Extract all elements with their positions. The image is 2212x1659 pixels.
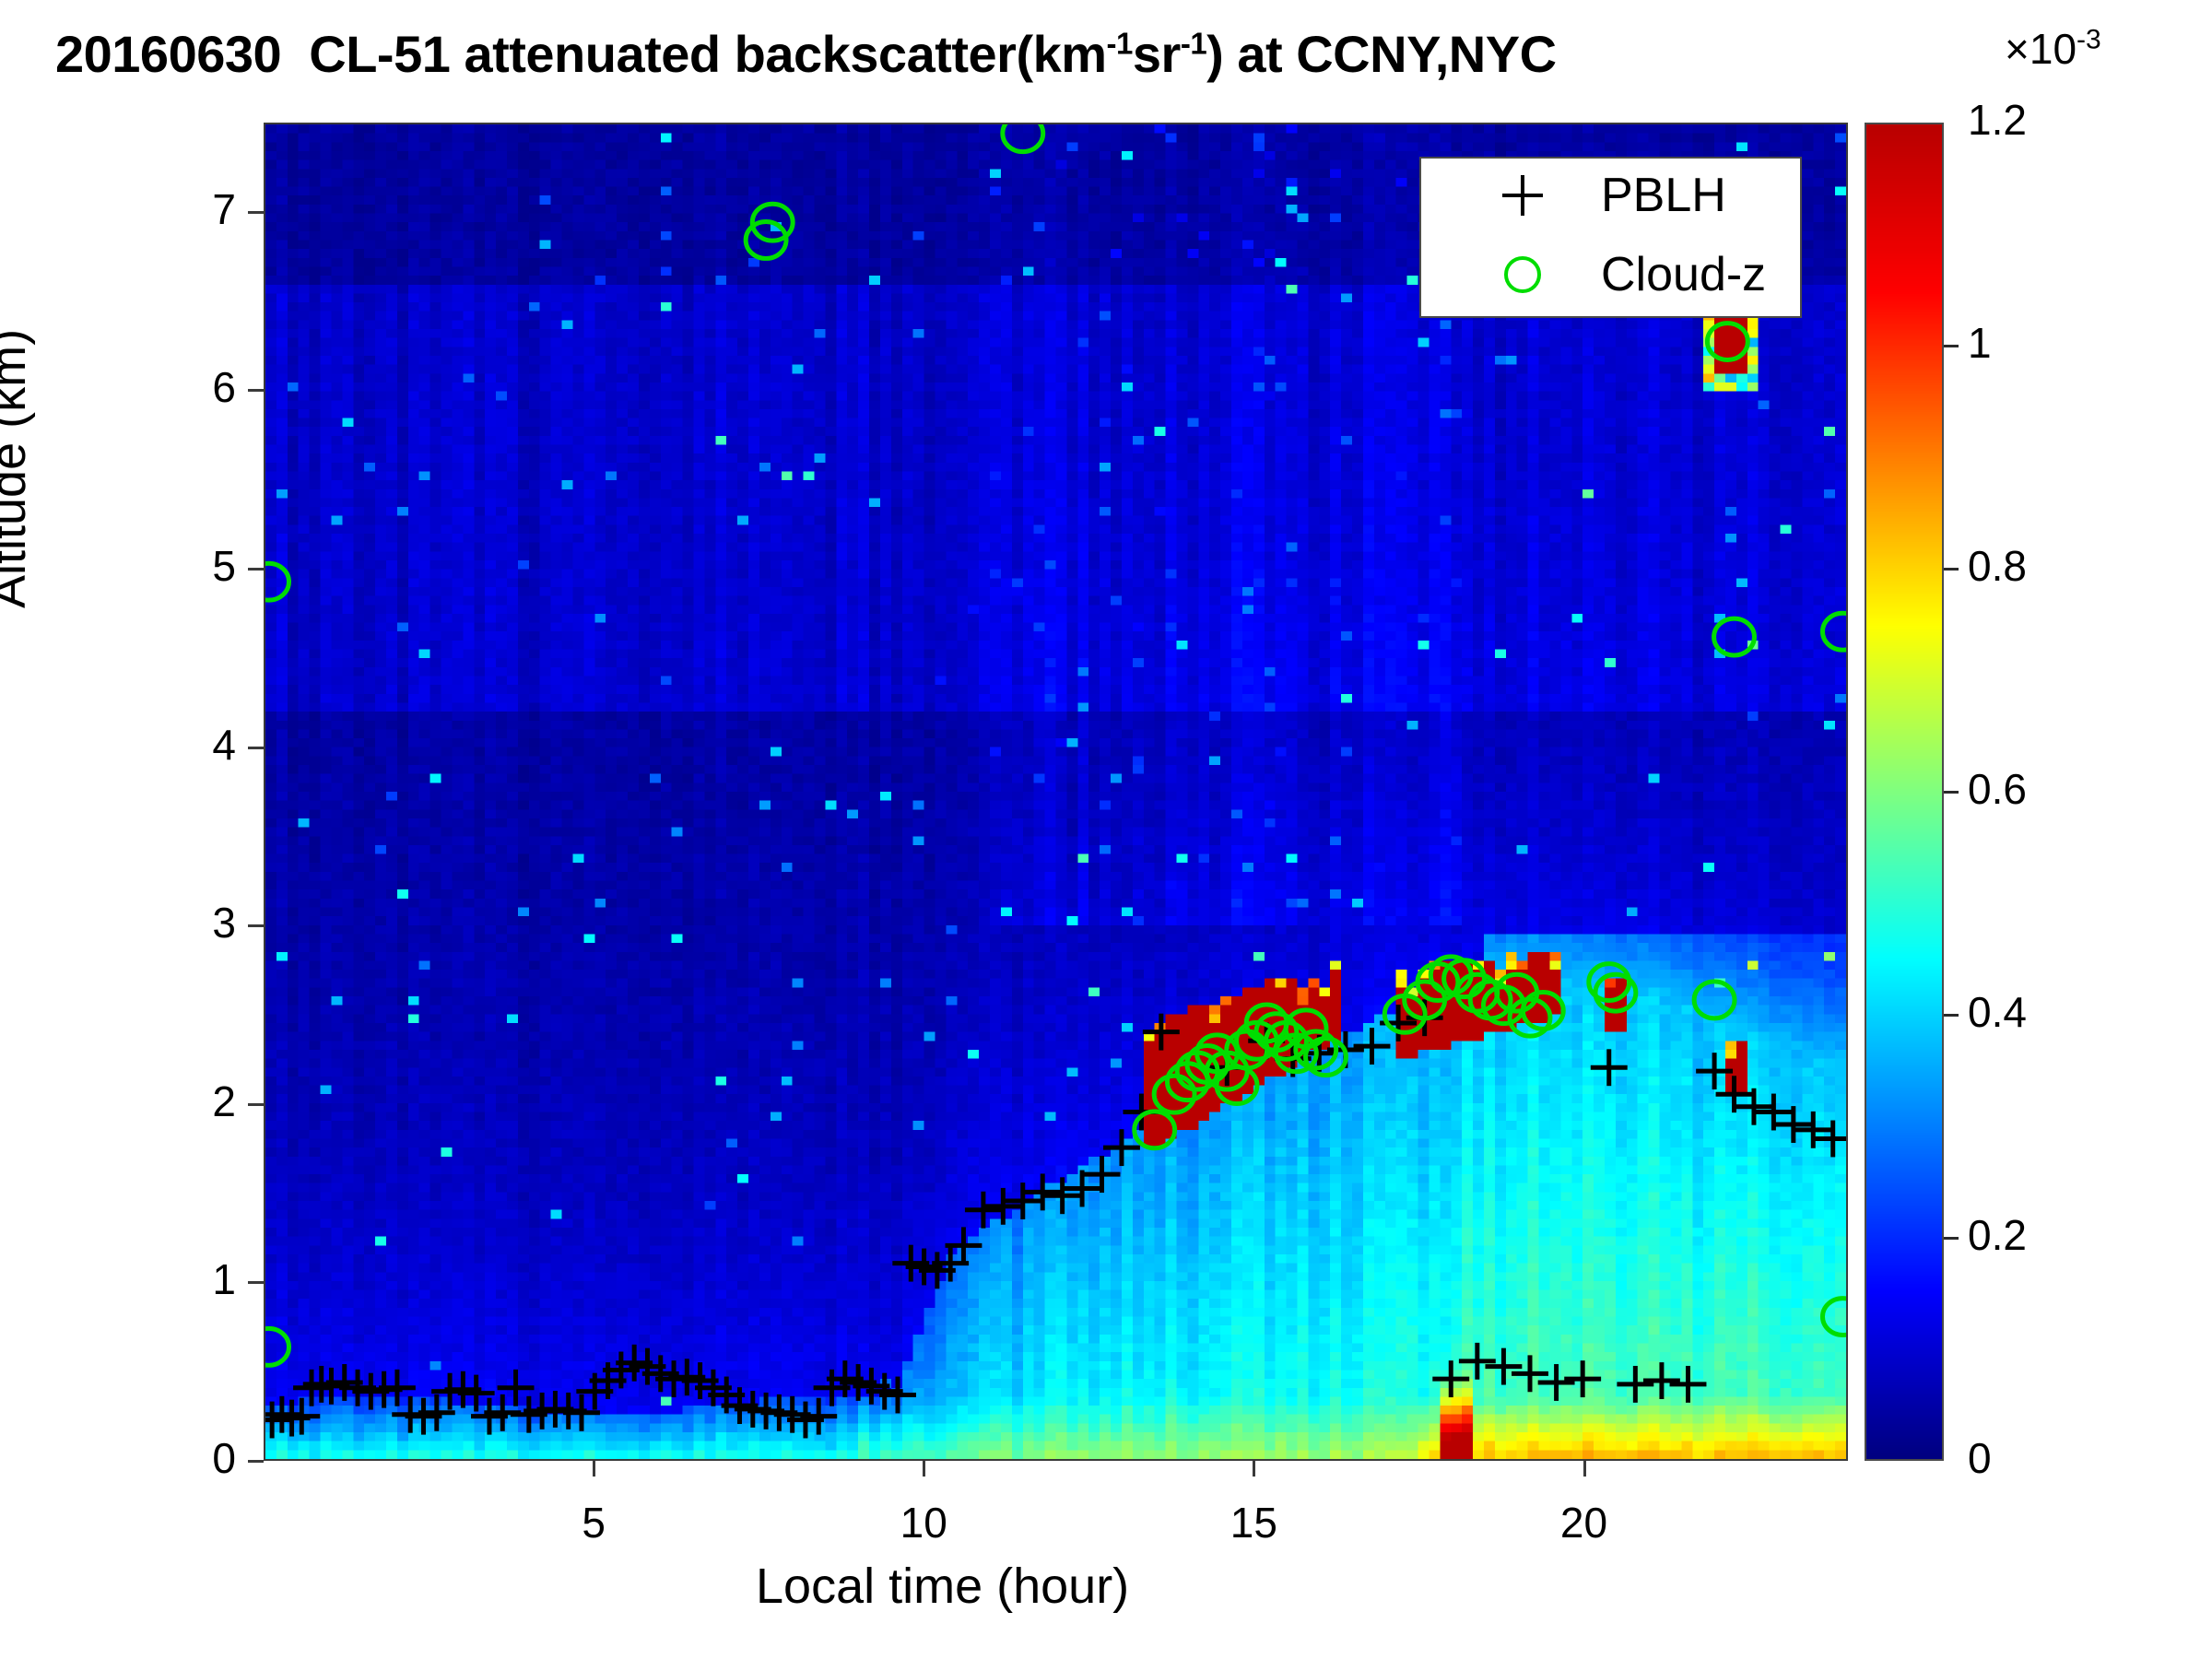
x-axis-tick <box>1583 1461 1586 1477</box>
y-axis-label: Altitude (km) <box>0 329 37 608</box>
colorbar-tick-label: 1.2 <box>1968 95 2027 145</box>
title-instrument: CL-51 <box>309 25 450 83</box>
plot-legend[interactable]: PBLH Cloud-z <box>1419 157 1802 318</box>
x-axis-tick-label: 10 <box>868 1498 979 1547</box>
y-axis-tick-label: 1 <box>153 1254 236 1304</box>
y-axis-tick <box>248 924 264 927</box>
colorbar-tick-label: 0 <box>1968 1433 1992 1483</box>
x-axis-tick-label: 15 <box>1198 1498 1309 1547</box>
y-axis-tick-label: 3 <box>153 898 236 947</box>
title-date: 20160630 <box>55 25 281 83</box>
colorbar-tick <box>1944 1014 1959 1017</box>
legend-label-cloudz: Cloud-z <box>1601 247 1766 302</box>
colorbar-tick-label: 0.4 <box>1968 987 2027 1037</box>
title-quantity: attenuated backscatter <box>464 25 1016 83</box>
colorbar[interactable]: 00.20.40.60.811.2 <box>1865 123 1944 1461</box>
colorbar-tick <box>1944 345 1959 347</box>
legend-label-pblh: PBLH <box>1601 168 1726 223</box>
y-axis-tick <box>248 1103 264 1106</box>
colorbar-tick-label: 0.6 <box>1968 764 2027 814</box>
colorbar-tick-label: 0.2 <box>1968 1210 2027 1260</box>
y-axis-tick-label: 0 <box>153 1433 236 1483</box>
x-axis-tick-label: 5 <box>538 1498 649 1547</box>
x-axis-tick <box>923 1461 925 1477</box>
x-axis-tick-label: 20 <box>1529 1498 1640 1547</box>
legend-item-cloudz[interactable]: Cloud-z <box>1421 238 1800 312</box>
backscatter-heatmap <box>265 124 1846 1459</box>
y-axis-tick-label: 6 <box>153 362 236 412</box>
title-site: at CCNY,NYC <box>1237 25 1556 83</box>
y-axis-tick-label: 2 <box>153 1077 236 1126</box>
circle-marker-icon <box>1495 247 1550 302</box>
y-axis-tick <box>248 568 264 571</box>
heatmap-plot-area <box>264 123 1848 1461</box>
plus-marker-icon <box>1495 168 1550 223</box>
title-unit-km: km <box>1033 25 1107 83</box>
y-axis-tick <box>248 389 264 392</box>
x-axis-tick <box>593 1461 595 1477</box>
colorbar-tick-label: 1 <box>1968 318 1992 368</box>
title-unit-sr-exp: -1 <box>1181 26 1206 60</box>
title-unit-sr: sr <box>1133 25 1181 83</box>
page-title: 20160630 CL-51 attenuated backscatter(km… <box>55 24 1557 84</box>
colorbar-tick <box>1944 791 1959 794</box>
y-axis-tick-label: 4 <box>153 720 236 770</box>
x-axis-tick <box>1253 1461 1255 1477</box>
y-axis-tick <box>248 1281 264 1284</box>
y-axis-tick <box>248 211 264 214</box>
colorbar-tick-label: 0.8 <box>1968 541 2027 591</box>
title-unit-km-exp: -1 <box>1107 26 1133 60</box>
y-axis-tick <box>248 747 264 749</box>
y-axis-tick-label: 7 <box>153 184 236 234</box>
colorbar-tick <box>1944 1237 1959 1240</box>
colorbar-tick <box>1944 568 1959 571</box>
legend-item-pblh[interactable]: PBLH <box>1421 159 1800 232</box>
colorbar-exponent-label: ×10-3 <box>2005 24 2101 74</box>
x-axis-label: Local time (hour) <box>756 1558 1129 1615</box>
y-axis-tick-label: 5 <box>153 541 236 591</box>
y-axis-tick <box>248 1460 264 1463</box>
colorbar-gradient <box>1865 123 1944 1461</box>
